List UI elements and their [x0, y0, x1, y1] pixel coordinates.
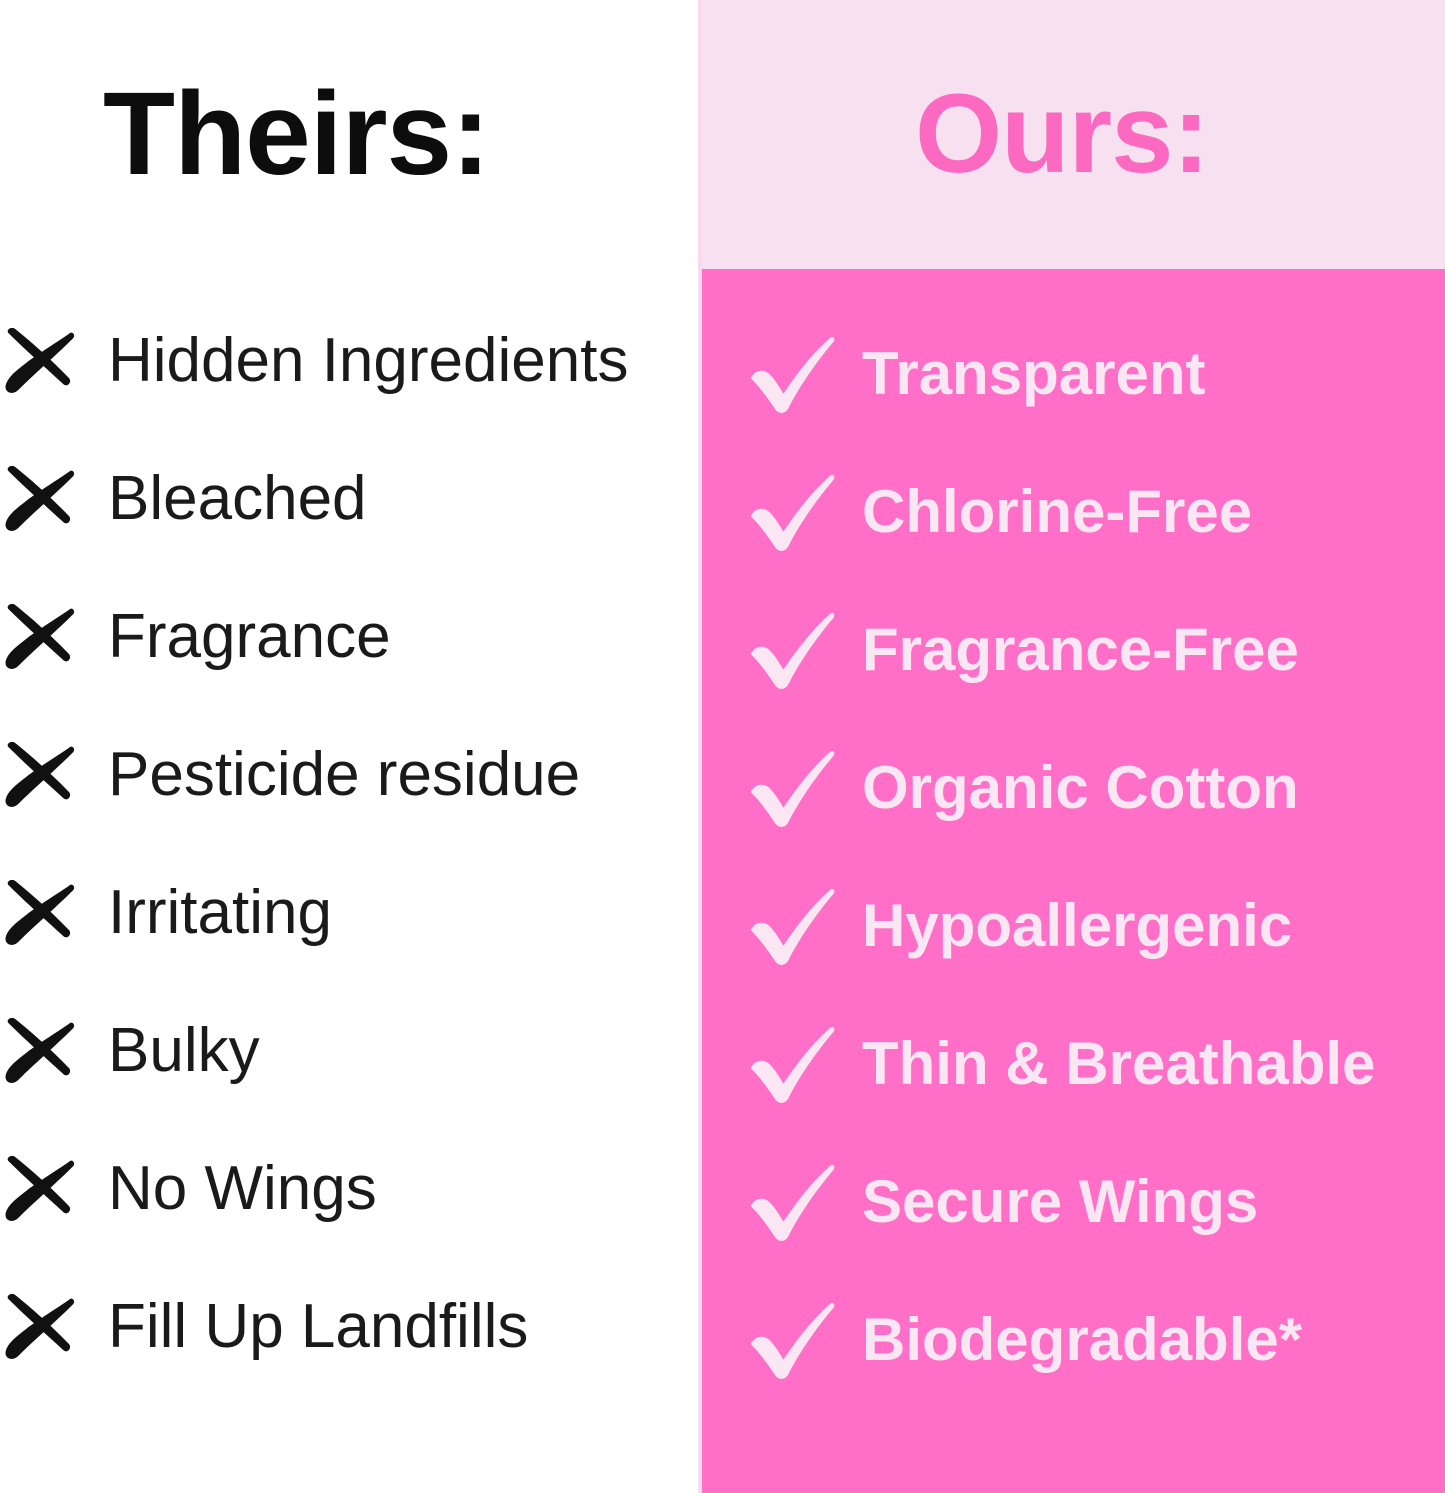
- cross-icon: [2, 1012, 80, 1090]
- list-item: Thin & Breathable: [700, 995, 1445, 1133]
- list-item-label: Biodegradable*: [862, 1310, 1302, 1370]
- check-icon: [748, 609, 840, 691]
- list-item-label: Hypoallergenic: [862, 896, 1292, 956]
- list-item: Organic Cotton: [700, 719, 1445, 857]
- cross-icon: [2, 1288, 80, 1366]
- list-item-label: No Wings: [108, 1158, 377, 1220]
- cross-icon: [2, 322, 80, 400]
- ours-heading: Ours:: [915, 78, 1209, 190]
- list-item: Fragrance-Free: [700, 581, 1445, 719]
- list-item-label: Transparent: [862, 344, 1205, 404]
- list-item: Transparent: [700, 305, 1445, 443]
- list-item-label: Fragrance: [108, 606, 391, 668]
- theirs-list: Hidden Ingredients Bleached Fragrance Pe…: [0, 292, 690, 1396]
- ours-list: Transparent Chlorine-Free Fragrance-Free…: [700, 305, 1445, 1409]
- list-item-label: Hidden Ingredients: [108, 330, 628, 392]
- list-item-label: Bleached: [108, 468, 367, 530]
- check-icon: [748, 333, 840, 415]
- cross-icon: [2, 460, 80, 538]
- cross-icon: [2, 1150, 80, 1228]
- check-icon: [748, 1023, 840, 1105]
- list-item-label: Bulky: [108, 1020, 260, 1082]
- check-icon: [748, 885, 840, 967]
- check-icon: [748, 1299, 840, 1381]
- cross-icon: [2, 598, 80, 676]
- list-item: Bulky: [0, 982, 690, 1120]
- list-item: Biodegradable*: [700, 1271, 1445, 1409]
- list-item-label: Organic Cotton: [862, 758, 1299, 818]
- list-item: Irritating: [0, 844, 690, 982]
- check-icon: [748, 747, 840, 829]
- list-item-label: Irritating: [108, 882, 332, 944]
- list-item-label: Thin & Breathable: [862, 1034, 1375, 1094]
- cross-icon: [2, 736, 80, 814]
- comparison-chart: Theirs: Ours: Hidden Ingredients Bleache…: [0, 0, 1445, 1493]
- list-item: Fill Up Landfills: [0, 1258, 690, 1396]
- list-item-label: Pesticide residue: [108, 744, 580, 806]
- list-item: Pesticide residue: [0, 706, 690, 844]
- list-item: Fragrance: [0, 568, 690, 706]
- list-item: Chlorine-Free: [700, 443, 1445, 581]
- list-item-label: Secure Wings: [862, 1172, 1258, 1232]
- list-item: Hidden Ingredients: [0, 292, 690, 430]
- list-item-label: Fragrance-Free: [862, 620, 1299, 680]
- check-icon: [748, 1161, 840, 1243]
- list-item-label: Fill Up Landfills: [108, 1296, 528, 1358]
- theirs-heading: Theirs:: [103, 75, 489, 193]
- check-icon: [748, 471, 840, 553]
- list-item-label: Chlorine-Free: [862, 482, 1252, 542]
- list-item: Hypoallergenic: [700, 857, 1445, 995]
- list-item: Bleached: [0, 430, 690, 568]
- list-item: No Wings: [0, 1120, 690, 1258]
- list-item: Secure Wings: [700, 1133, 1445, 1271]
- cross-icon: [2, 874, 80, 952]
